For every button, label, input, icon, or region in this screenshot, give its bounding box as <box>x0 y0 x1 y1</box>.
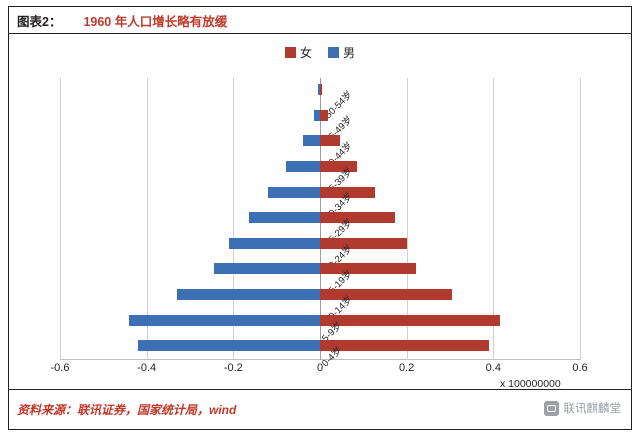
bar-female <box>320 84 322 95</box>
x-tick-label: 0 <box>317 362 323 374</box>
x-tick-label: 0.2 <box>399 362 414 374</box>
pyramid-row: 20-24岁 <box>60 232 580 258</box>
x-tick-label: -0.6 <box>51 362 70 374</box>
bar-female <box>320 340 489 351</box>
figure-title: 1960 年人口增长略有放缓 <box>83 11 227 30</box>
pyramid-row: 25-29岁 <box>60 206 580 232</box>
pyramid-row: 5-9岁 <box>60 309 580 335</box>
bar-male <box>318 84 320 95</box>
x-tick-label: 0.4 <box>486 362 501 374</box>
population-pyramid-chart: 50-54岁45-49岁40-44岁35-39岁30-34岁25-29岁20-2… <box>60 78 580 368</box>
bar-male <box>129 315 320 326</box>
pyramid-row: 35-39岁 <box>60 155 580 181</box>
bar-male <box>314 110 321 121</box>
bar-male <box>268 187 320 198</box>
legend-swatch-female-icon <box>285 47 296 58</box>
bar-male <box>229 238 320 249</box>
bar-female <box>320 212 395 223</box>
bar-male <box>303 135 320 146</box>
figure-header: 图表2： 1960 年人口增长略有放缓 <box>9 7 631 34</box>
pyramid-row: 0-4岁 <box>60 334 580 360</box>
figure-footer: 资料来源：联讯证券，国家统计局，wind 联讯麒麟堂 <box>9 389 631 429</box>
legend-item-female: 女 <box>285 44 312 61</box>
legend-item-male: 男 <box>328 44 355 61</box>
pyramid-row: 15-19岁 <box>60 257 580 283</box>
watermark-label: 联讯麒麟堂 <box>564 400 622 416</box>
pyramid-row: 40-44岁 <box>60 129 580 155</box>
source-note: 资料来源：联讯证券，国家统计局，wind <box>17 401 236 418</box>
bar-male <box>138 340 320 351</box>
bar-male <box>249 212 321 223</box>
bar-female <box>320 315 500 326</box>
pyramid-row: 50-54岁 <box>60 78 580 104</box>
watermark: 联讯麒麟堂 <box>544 400 622 416</box>
legend-swatch-male-icon <box>328 47 339 58</box>
x-tick-label: -0.2 <box>224 362 243 374</box>
bar-male <box>286 161 320 172</box>
bar-male <box>214 263 320 274</box>
legend-label-female: 女 <box>300 44 312 61</box>
pyramid-row: 30-34岁 <box>60 181 580 207</box>
x-gridline <box>580 78 581 360</box>
plot-area: 50-54岁45-49岁40-44岁35-39岁30-34岁25-29岁20-2… <box>60 78 580 360</box>
wechat-logo-icon <box>544 401 559 416</box>
bar-female <box>320 263 416 274</box>
pyramid-row: 45-49岁 <box>60 104 580 130</box>
bar-female <box>320 110 328 121</box>
pyramid-row: 10-14岁 <box>60 283 580 309</box>
bar-female <box>320 238 407 249</box>
x-axis-ticks: -0.6-0.4-0.200.20.40.6 <box>60 362 580 378</box>
x-tick-label: 0.6 <box>572 362 587 374</box>
figure-number: 图表2： <box>17 11 61 30</box>
x-tick-label: -0.4 <box>137 362 156 374</box>
legend-label-male: 男 <box>343 44 355 61</box>
chart-legend: 女 男 <box>0 44 640 61</box>
bar-male <box>177 289 320 300</box>
